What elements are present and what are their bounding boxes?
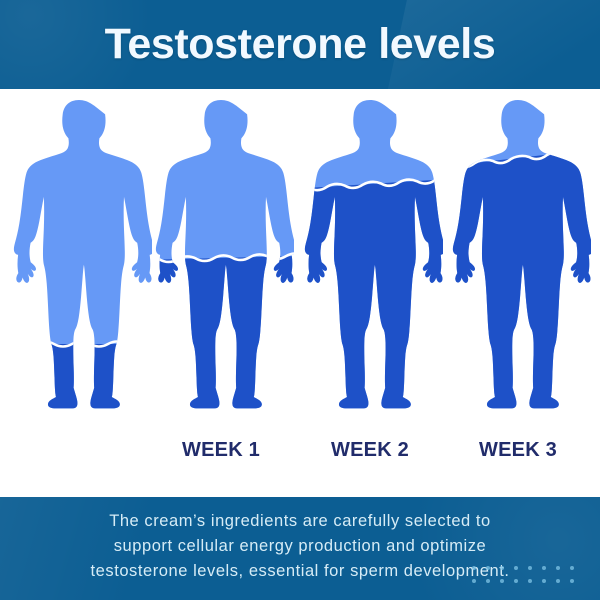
footer-line-2: support cellular energy production and o… [0,534,600,559]
dot [570,566,574,570]
week-label-week-3: WEEK 3 [443,439,593,462]
dot [556,566,560,570]
dot [528,566,532,570]
infographic-poster: Testosterone levels [0,0,600,600]
waterline-wave [6,342,152,347]
dot [514,566,518,570]
dot-grid-decoration [472,566,584,592]
week-label-week-1: WEEK 1 [146,439,296,462]
dot [514,579,518,583]
body-silhouette-week-1 [148,97,294,427]
dot [486,579,490,583]
figure-column-baseline [4,89,154,497]
footer-line-1: The cream’s ingredients are carefully se… [0,509,600,534]
dot [528,579,532,583]
silhouette-filled-area [445,149,591,427]
dot [472,566,476,570]
silhouette-filled-area [148,256,294,427]
dot [500,566,504,570]
silhouette-filled-area [6,344,152,427]
body-silhouette-week-2 [297,97,443,427]
page-title: Testosterone levels [0,0,600,89]
week-label-week-2: WEEK 2 [295,439,445,462]
silhouette-filled-area [297,179,443,427]
body-silhouette-week-3 [445,97,591,427]
figures-stage: WEEK 1 WEEK 2 WEEK 3 [0,89,600,497]
figure-column-week-1: WEEK 1 [146,89,296,497]
silhouette-unfilled-area [6,97,152,427]
figure-column-week-3: WEEK 3 [443,89,593,497]
figure-column-week-2: WEEK 2 [295,89,445,497]
dot [542,579,546,583]
header-band: Testosterone levels [0,0,600,89]
dot [486,566,490,570]
dot [556,579,560,583]
body-silhouette-baseline [6,97,152,427]
dot [472,579,476,583]
dot [570,579,574,583]
dot [500,579,504,583]
footer-band: The cream’s ingredients are carefully se… [0,497,600,600]
dot [542,566,546,570]
